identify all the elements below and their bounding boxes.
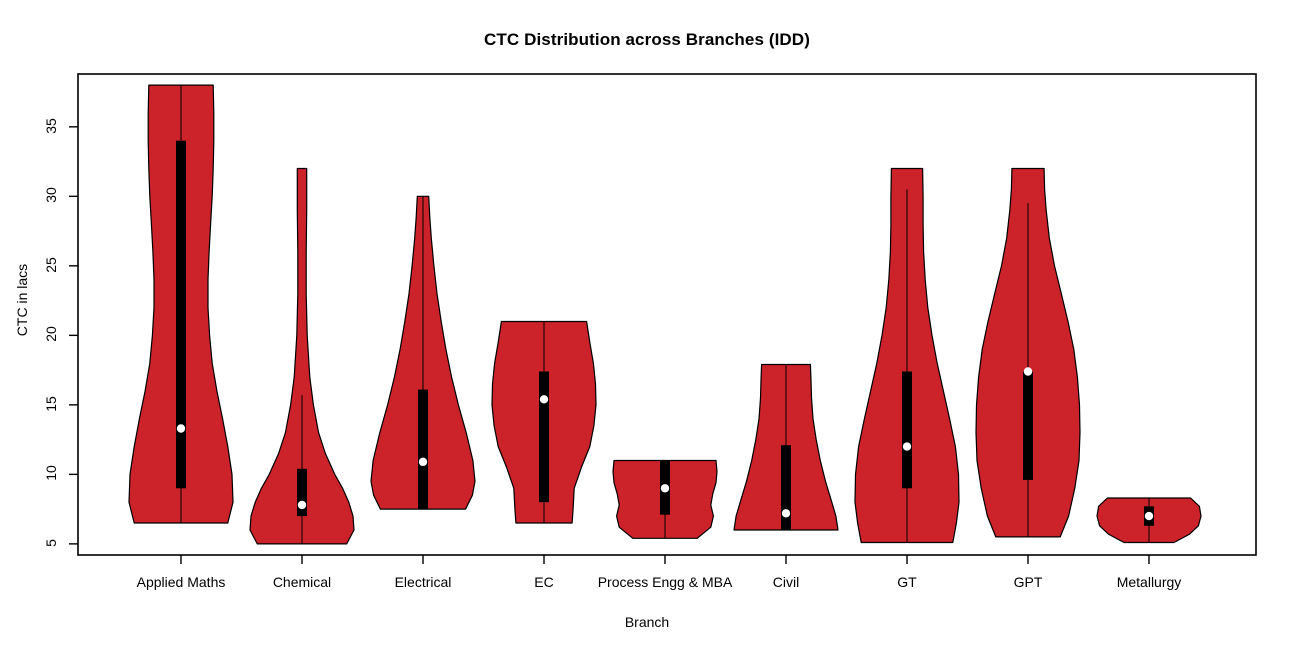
- violin-shapes: [129, 85, 1201, 544]
- violin-gt: [855, 169, 959, 543]
- y-tick-label: 25: [43, 245, 59, 285]
- y-tick-label: 30: [43, 175, 59, 215]
- x-tick-label: Metallurgy: [1059, 574, 1239, 590]
- violin-applied-maths: [129, 85, 233, 523]
- y-tick-label: 20: [43, 314, 59, 354]
- violin-chemical: [250, 169, 354, 544]
- violin-gpt: [976, 169, 1080, 537]
- violin-ec: [492, 321, 596, 523]
- violin-metallurgy: [1097, 498, 1201, 543]
- y-tick-label: 35: [43, 106, 59, 146]
- y-tick-label: 15: [43, 384, 59, 424]
- violin-process-engg-mba: [613, 460, 717, 538]
- violin-electrical: [371, 196, 475, 509]
- plot-canvas: [0, 0, 1294, 653]
- y-tick-label: 10: [43, 453, 59, 493]
- violin-civil: [734, 365, 838, 531]
- y-tick-label: 5: [43, 523, 59, 563]
- x-axis-ticks: [181, 555, 1149, 564]
- violin-plot-figure: CTC Distribution across Branches (IDD) C…: [0, 0, 1294, 653]
- y-axis-ticks: [69, 127, 78, 544]
